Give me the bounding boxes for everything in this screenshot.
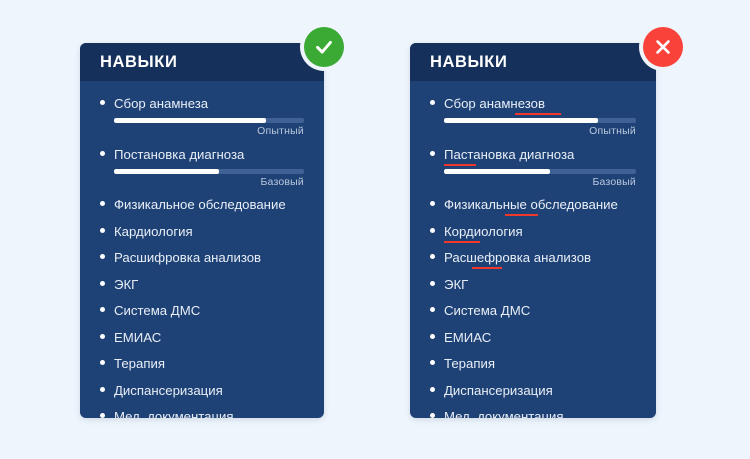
skill-label: ЭКГ <box>114 277 138 293</box>
skill-label-with-error: Расшефровка анализов <box>444 250 591 266</box>
rated-skill: Сбор анамнезов Опытный <box>430 95 636 137</box>
skill-progress-fill <box>444 169 550 174</box>
skill-label: Диспансеризация <box>114 383 223 399</box>
list-item: ЭКГ <box>430 277 636 293</box>
skill-label: Терапия <box>444 356 495 372</box>
skill-label: Сбор анамнеза <box>114 95 208 112</box>
list-item: Физикальное обследование <box>100 197 304 213</box>
skill-progress-bar <box>444 118 636 123</box>
cross-icon <box>653 37 673 57</box>
bullet-icon <box>100 151 105 156</box>
bullet-icon <box>430 387 435 392</box>
list-item: Система ДМС <box>430 303 636 319</box>
bullet-icon <box>100 413 105 418</box>
skills-card-incorrect: НАВЫКИ Сбор анамнезов Опытный Пастановка… <box>410 43 656 418</box>
skill-label: Система ДМС <box>114 303 200 319</box>
bullet-icon <box>100 228 105 233</box>
list-item: ЭКГ <box>100 277 304 293</box>
list-item: ЕМИАС <box>430 330 636 346</box>
bullet-icon <box>430 360 435 365</box>
bullet-icon <box>430 281 435 286</box>
skill-level-label: Опытный <box>100 125 304 137</box>
skill-progress-fill <box>444 118 598 123</box>
bullet-icon <box>430 151 435 156</box>
card-header-incorrect: НАВЫКИ <box>410 43 656 81</box>
bullet-icon <box>100 201 105 206</box>
skill-progress-bar <box>114 118 304 123</box>
skill-list-incorrect: Физикальные обследование Кордиология Рас… <box>430 197 636 418</box>
skill-label: Мед. документация <box>114 409 234 418</box>
skill-label: Постановка диагноза <box>114 146 244 163</box>
skill-label: ЕМИАС <box>114 330 161 346</box>
rated-skill: Пастановка диагноза Базовый <box>430 146 636 188</box>
skill-row: Пастановка диагноза <box>430 146 636 163</box>
skills-card-correct: НАВЫКИ Сбор анамнеза Опытный Постановка … <box>80 43 324 418</box>
card-title: НАВЫКИ <box>430 53 507 72</box>
list-item: Терапия <box>100 356 304 372</box>
bullet-icon <box>100 100 105 105</box>
bullet-icon <box>100 254 105 259</box>
list-item: Кордиология <box>430 224 636 240</box>
skill-progress-bar <box>444 169 636 174</box>
skill-label-with-error: Пастановка диагноза <box>444 146 574 163</box>
skill-label-with-error: Сбор анамнезов <box>444 95 545 112</box>
rated-skill: Сбор анамнеза Опытный <box>100 95 304 137</box>
check-icon <box>313 36 335 58</box>
skill-label-with-error: Физикальные обследование <box>444 197 618 213</box>
skill-label: Терапия <box>114 356 165 372</box>
skill-progress-bar <box>114 169 304 174</box>
list-item: Диспансеризация <box>430 383 636 399</box>
list-item: Система ДМС <box>100 303 304 319</box>
list-item: Мед. документация <box>100 409 304 418</box>
list-item: Расшефровка анализов <box>430 250 636 266</box>
skill-level-label: Опытный <box>430 125 636 137</box>
skill-progress-fill <box>114 118 266 123</box>
list-item: Расшифровка анализов <box>100 250 304 266</box>
skill-label-with-error: Кордиология <box>444 224 523 240</box>
skill-list-correct: Физикальное обследование Кардиология Рас… <box>100 197 304 418</box>
bullet-icon <box>100 307 105 312</box>
skill-label: Физикальное обследование <box>114 197 286 213</box>
bullet-icon <box>430 254 435 259</box>
skill-level-label: Базовый <box>430 176 636 188</box>
bullet-icon <box>430 201 435 206</box>
bullet-icon <box>430 228 435 233</box>
card-title: НАВЫКИ <box>100 53 177 72</box>
card-header-correct: НАВЫКИ <box>80 43 324 81</box>
status-badge-rejected <box>643 27 683 67</box>
bullet-icon <box>430 100 435 105</box>
skill-label: Мед. документация <box>444 409 564 418</box>
skill-row: Сбор анамнезов <box>430 95 636 112</box>
skill-row: Постановка диагноза <box>100 146 304 163</box>
card-body-correct: Сбор анамнеза Опытный Постановка диагноз… <box>80 81 324 418</box>
list-item: Терапия <box>430 356 636 372</box>
list-item: ЕМИАС <box>100 330 304 346</box>
skill-label: ЭКГ <box>444 277 468 293</box>
status-badge-approved <box>304 27 344 67</box>
skill-label: Диспансеризация <box>444 383 553 399</box>
bullet-icon <box>430 334 435 339</box>
skill-label: Кардиология <box>114 224 193 240</box>
bullet-icon <box>100 360 105 365</box>
skill-level-label: Базовый <box>100 176 304 188</box>
bullet-icon <box>430 307 435 312</box>
skill-label: ЕМИАС <box>444 330 491 346</box>
skill-row: Сбор анамнеза <box>100 95 304 112</box>
list-item: Физикальные обследование <box>430 197 636 213</box>
card-body-incorrect: Сбор анамнезов Опытный Пастановка диагно… <box>410 81 656 418</box>
bullet-icon <box>430 413 435 418</box>
bullet-icon <box>100 387 105 392</box>
skill-label: Расшифровка анализов <box>114 250 261 266</box>
list-item: Кардиология <box>100 224 304 240</box>
skill-progress-fill <box>114 169 219 174</box>
list-item: Диспансеризация <box>100 383 304 399</box>
bullet-icon <box>100 281 105 286</box>
skill-label: Система ДМС <box>444 303 530 319</box>
comparison-stage: НАВЫКИ Сбор анамнеза Опытный Постановка … <box>0 0 750 459</box>
list-item: Мед. документация <box>430 409 636 418</box>
bullet-icon <box>100 334 105 339</box>
rated-skill: Постановка диагноза Базовый <box>100 146 304 188</box>
